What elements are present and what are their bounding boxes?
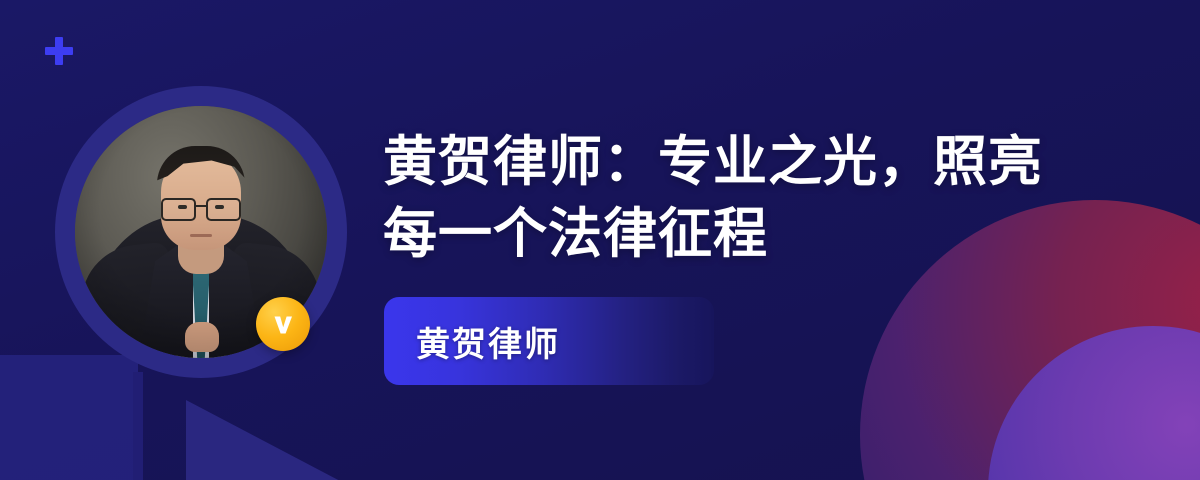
banner-root: 黄贺律师：专业之光，照亮每一个法律征程 黄贺律师: [0, 0, 1200, 480]
lawyer-name-pill[interactable]: 黄贺律师: [384, 297, 714, 385]
verified-badge-icon: [256, 297, 310, 351]
decorative-band-edge-shape: [133, 372, 143, 480]
lawyer-name-label: 黄贺律师: [416, 317, 560, 366]
decorative-triangle-shape: [186, 400, 342, 480]
plus-icon: [45, 37, 73, 65]
page-title: 黄贺律师：专业之光，照亮每一个法律征程: [383, 126, 1083, 270]
